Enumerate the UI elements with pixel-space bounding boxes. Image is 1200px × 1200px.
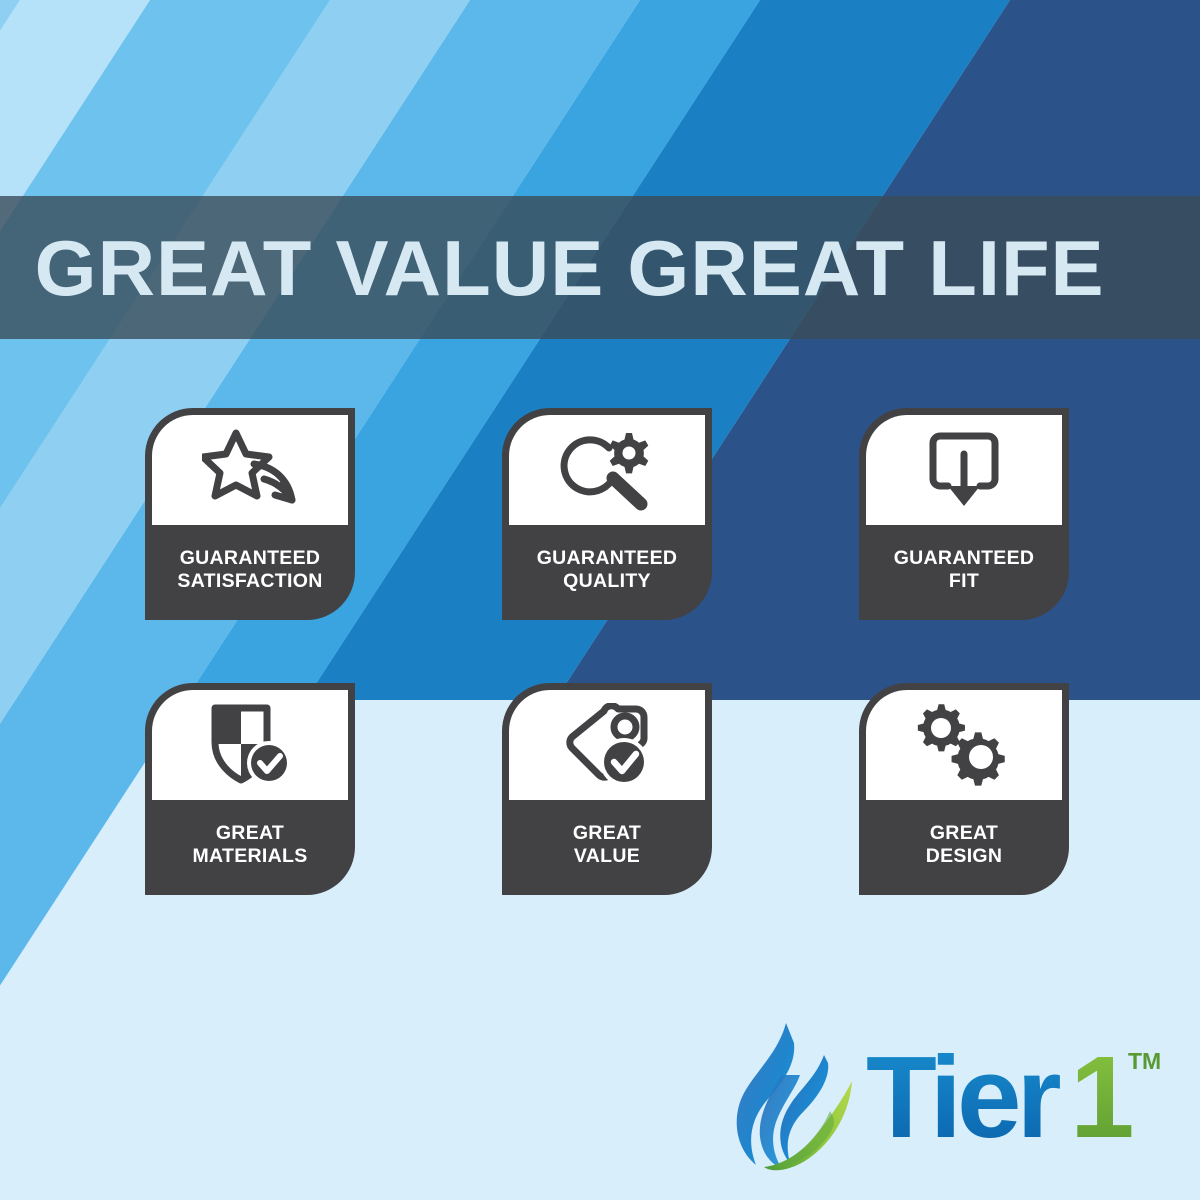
badge-label-line2: SATISFACTION: [177, 570, 322, 593]
tier1-droplet-leaf-mark: [712, 1019, 862, 1177]
badge-label-line2: VALUE: [574, 845, 640, 868]
two-gears-icon: [866, 690, 1062, 800]
shooting-star-icon: [152, 415, 348, 525]
badge-label: GUARANTEED FIT: [859, 525, 1069, 620]
page-title: GREAT VALUE GREAT LIFE: [0, 229, 1105, 307]
poster-canvas: GREAT VALUE GREAT LIFE GUARANTEED SATISF…: [0, 0, 1200, 1200]
tier1-logo[interactable]: Tier 1 TM: [712, 1018, 1172, 1178]
badge-great-design[interactable]: GREAT DESIGN: [859, 683, 1069, 895]
badge-label: GREAT DESIGN: [859, 800, 1069, 895]
badge-label-line1: GREAT: [573, 822, 641, 845]
badge-great-value[interactable]: GREAT VALUE: [502, 683, 712, 895]
tier1-wordmark: Tier 1 TM: [866, 1033, 1166, 1163]
badge-label-line1: GUARANTEED: [894, 547, 1035, 570]
feature-badge-grid: GUARANTEED SATISFACTION GU: [145, 408, 1070, 895]
badge-label: GUARANTEED QUALITY: [502, 525, 712, 620]
box-down-arrow-icon: [866, 415, 1062, 525]
badge-label-line2: QUALITY: [563, 570, 651, 593]
price-tag-check-icon: [509, 690, 705, 800]
badge-label-line1: GREAT: [216, 822, 284, 845]
wordmark-one: 1: [1070, 1033, 1135, 1162]
badge-label: GREAT VALUE: [502, 800, 712, 895]
magnifier-gear-icon: [509, 415, 705, 525]
badge-guaranteed-satisfaction[interactable]: GUARANTEED SATISFACTION: [145, 408, 355, 620]
badge-guaranteed-quality[interactable]: GUARANTEED QUALITY: [502, 408, 712, 620]
badge-guaranteed-fit[interactable]: GUARANTEED FIT: [859, 408, 1069, 620]
badge-label-line1: GUARANTEED: [537, 547, 678, 570]
trademark-symbol: TM: [1128, 1048, 1161, 1074]
badge-great-materials[interactable]: GREAT MATERIALS: [145, 683, 355, 895]
badge-label-line2: MATERIALS: [193, 845, 308, 868]
badge-label-line1: GUARANTEED: [180, 547, 321, 570]
badge-label-line1: GREAT: [930, 822, 998, 845]
badge-label: GUARANTEED SATISFACTION: [145, 525, 355, 620]
badge-label-line2: FIT: [949, 570, 979, 593]
wordmark-tier: Tier: [866, 1033, 1061, 1162]
badge-label-line2: DESIGN: [926, 845, 1003, 868]
shield-check-icon: [152, 690, 348, 800]
headline-banner: GREAT VALUE GREAT LIFE: [0, 196, 1200, 339]
badge-label: GREAT MATERIALS: [145, 800, 355, 895]
